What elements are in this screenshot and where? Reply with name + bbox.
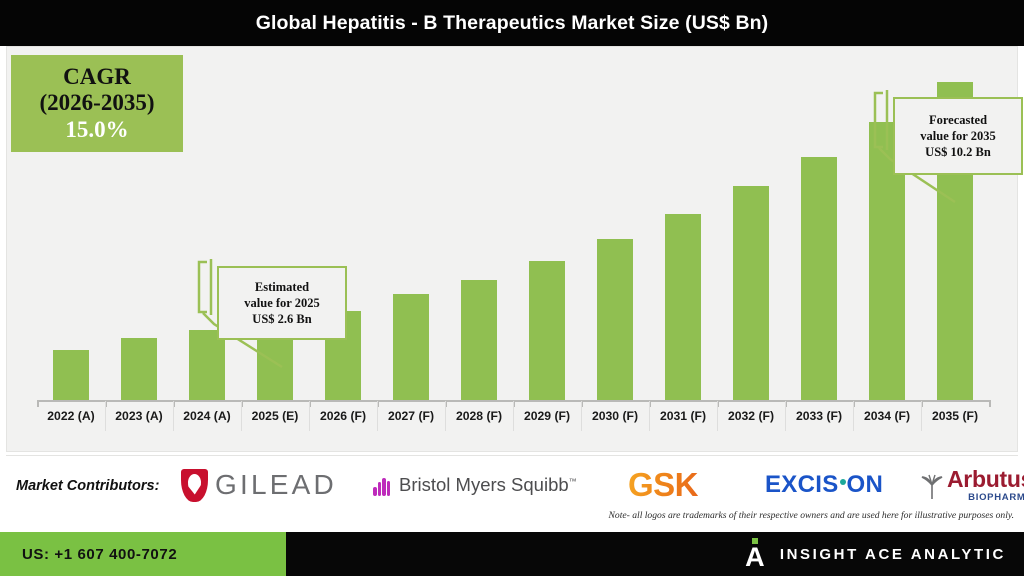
excision-dot-icon: [840, 479, 846, 485]
chart-panel: CAGR (2026-2035) 15.0% Estimated value f…: [6, 46, 1018, 452]
arbutus-wordmark: Arbutus: [947, 468, 1024, 491]
footer-contact-block: US: +1 607 400-7072: [0, 532, 286, 576]
logo-gsk: GSK: [628, 462, 698, 508]
logo-row: GILEAD Bristol Myers Squibb™ GSK EXCISON: [181, 462, 1021, 508]
footer-brand: A INSIGHT ACE ANALYTIC: [744, 532, 1006, 576]
callout-estimated-line2: value for 2025: [244, 295, 319, 311]
footer-brand-name: INSIGHT ACE ANALYTIC: [780, 546, 1006, 563]
title-bar: Global Hepatitis - B Therapeutics Market…: [0, 0, 1024, 46]
logo-gilead: GILEAD: [181, 462, 337, 508]
arbutus-plant-icon: [919, 470, 945, 500]
excision-text-after: ON: [847, 471, 884, 498]
callout-forecasted-line2: value for 2035: [920, 128, 995, 144]
bms-wordmark: Bristol Myers Squibb™: [399, 474, 577, 496]
arbutus-subtitle: BIOPHARMA: [968, 492, 1024, 503]
contributors-label: Market Contributors:: [16, 478, 159, 494]
bms-wordmark-text: Bristol Myers Squibb: [399, 474, 569, 495]
logo-bristol-myers-squibb: Bristol Myers Squibb™: [373, 462, 577, 508]
callout-leader-lines: [7, 47, 1019, 453]
footer-phone[interactable]: US: +1 607 400-7072: [22, 546, 177, 563]
excision-text-before: EXCIS: [765, 471, 839, 498]
callout-forecasted-2035: Forecasted value for 2035 US$ 10.2 Bn: [893, 97, 1023, 175]
callout-estimated-line1: Estimated: [255, 279, 309, 295]
infographic-root: Global Hepatitis - B Therapeutics Market…: [0, 0, 1024, 576]
bms-tm-mark: ™: [569, 477, 577, 486]
callout-estimated-2025: Estimated value for 2025 US$ 2.6 Bn: [217, 266, 347, 340]
insightace-logo-icon: A: [744, 539, 766, 569]
logo-arbutus: Arbutus BIOPHARMA: [919, 462, 1024, 508]
arbutus-wordmark-wrap: Arbutus BIOPHARMA: [947, 468, 1024, 503]
callout-forecasted-line3: US$ 10.2 Bn: [925, 144, 991, 160]
gilead-shield-icon: [181, 469, 208, 502]
insightace-initial: A: [744, 545, 766, 569]
page-title: Global Hepatitis - B Therapeutics Market…: [256, 12, 769, 35]
gilead-wordmark: GILEAD: [215, 469, 337, 501]
gsk-wordmark: GSK: [628, 466, 698, 504]
callout-forecasted-line1: Forecasted: [929, 112, 987, 128]
footer-bar: US: +1 607 400-7072 A INSIGHT ACE ANALYT…: [0, 532, 1024, 576]
market-contributors-band: Market Contributors: GILEAD Bristol Myer…: [6, 455, 1018, 532]
trademark-note: Note- all logos are trademarks of their …: [609, 510, 1014, 521]
logo-excision: EXCISON: [765, 462, 883, 508]
bms-hand-icon: [373, 474, 393, 496]
callout-estimated-line3: US$ 2.6 Bn: [252, 311, 311, 327]
excision-wordmark: EXCISON: [765, 471, 883, 499]
